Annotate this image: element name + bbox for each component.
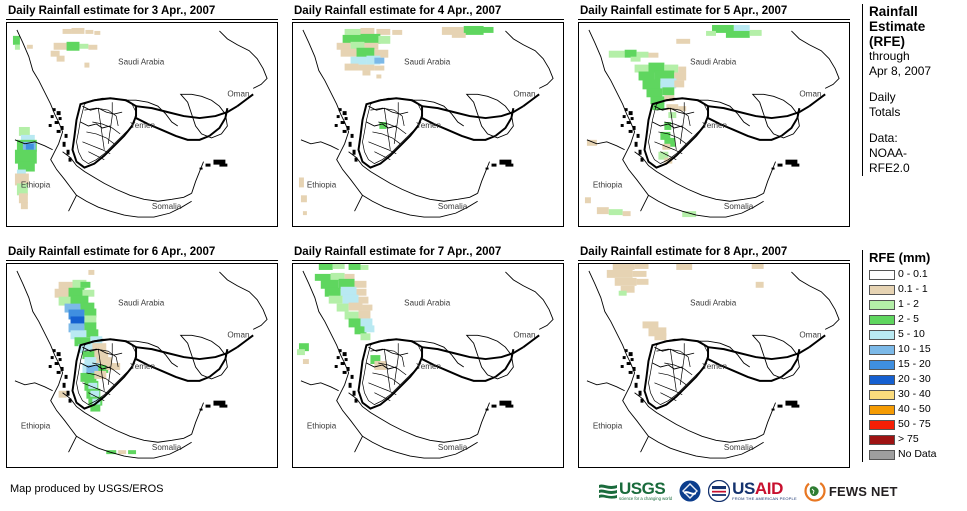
info-through-date: Apr 8, 2007 [869,64,967,79]
legend-label: 40 - 50 [898,404,931,415]
map-credit: Map produced by USGS/EROS [10,483,163,495]
legend-swatch [869,405,895,415]
label-oman: Oman [513,330,535,339]
label-somalia: Somalia [152,443,182,452]
legend-item: 5 - 10 [869,327,967,342]
label-somalia: Somalia [724,202,754,211]
map-svg: Saudi Arabia Oman Yemen Ethiopia Somalia [293,23,563,226]
label-ethiopia: Ethiopia [307,421,337,430]
legend-rows: 0 - 0.10.1 - 11 - 22 - 55 - 1010 - 1515 … [869,267,967,462]
label-somalia: Somalia [438,443,468,452]
legend-swatch [869,270,895,280]
legend-label: > 75 [898,434,919,445]
rain-cells [297,264,386,370]
legend-label: 0 - 0.1 [898,269,928,280]
info-data-line3: RFE2.0 [869,161,967,176]
label-ethiopia: Ethiopia [593,180,623,189]
legend-item: 10 - 15 [869,342,967,357]
info-period-line1: Daily [869,90,967,105]
legend-item: 1 - 2 [869,297,967,312]
legend-swatch [869,435,895,445]
label-saudi-arabia: Saudi Arabia [404,58,451,67]
panel-title: Daily Rainfall estimate for 8 Apr., 2007 [578,245,850,261]
label-somalia: Somalia [152,202,182,211]
map-canvas[interactable]: Saudi Arabia Oman Yemen Ethiopia Somalia [292,263,564,468]
legend-label: 5 - 10 [898,329,925,340]
label-oman: Oman [227,330,249,339]
map-canvas[interactable]: Saudi Arabia Oman Yemen Ethiopia Somalia [578,22,850,227]
label-saudi-arabia: Saudi Arabia [118,58,165,67]
legend-swatch [869,315,895,325]
label-yemen: Yemen [416,362,441,371]
place-labels: Saudi Arabia Oman Yemen Ethiopia Somalia [307,58,536,212]
spacer [869,79,967,90]
legend-item: > 75 [869,432,967,447]
legend-item: 40 - 50 [869,402,967,417]
label-oman: Oman [799,89,821,98]
legend-swatch [869,375,895,385]
usgs-wave-icon [598,482,618,500]
map-panel: Daily Rainfall estimate for 4 Apr., 2007 [292,4,564,227]
label-oman: Oman [227,89,249,98]
map-panel: Daily Rainfall estimate for 6 Apr., 2007 [6,245,278,468]
usgs-tagline: science for a changing world [619,496,672,501]
label-saudi-arabia: Saudi Arabia [690,299,737,308]
usaid-logo: USAID FROM THE AMERICAN PEOPLE [708,477,797,505]
usgs-logo: USGS science for a changing world [598,477,672,505]
legend-swatch [869,330,895,340]
legend-swatch [869,285,895,295]
legend-label: 10 - 15 [898,344,931,355]
legend-item: 0 - 0.1 [869,267,967,282]
legend-label: 50 - 75 [898,419,931,430]
rfe-map-sheet: Daily Rainfall estimate for 3 Apr., 2007 [0,0,967,511]
map-svg: Saudi Arabia Oman Yemen Ethiopia Somalia [293,264,563,467]
panel-title: Daily Rainfall estimate for 3 Apr., 2007 [6,4,278,20]
info-heading-line3: (RFE) [869,34,967,49]
legend-swatch [869,360,895,370]
map-panel: Daily Rainfall estimate for 7 Apr., 2007 [292,245,564,468]
fews-net-wordmark: FEWS NET [829,484,898,499]
label-ethiopia: Ethiopia [593,421,623,430]
legend-label: 30 - 40 [898,389,931,400]
label-ethiopia: Ethiopia [21,421,51,430]
international-borders [359,335,540,408]
info-panel: Rainfall Estimate (RFE) through Apr 8, 2… [862,4,967,176]
info-through-label: through [869,49,967,64]
fews-net-logo: FEWS NET [804,477,898,505]
place-labels: Saudi Arabia Oman Yemen Ethiopia Somalia [307,299,536,453]
legend-item: 50 - 75 [869,417,967,432]
spacer [869,120,967,131]
info-data-line1: Data: [869,131,967,146]
label-oman: Oman [513,89,535,98]
logo-strip: USGS science for a changing world [598,476,898,506]
label-yemen: Yemen [130,362,155,371]
legend-item: 2 - 5 [869,312,967,327]
label-saudi-arabia: Saudi Arabia [690,58,737,67]
map-canvas[interactable]: Saudi Arabia Oman Yemen Ethiopia Somalia [292,22,564,227]
legend-swatch [869,420,895,430]
label-somalia: Somalia [724,443,754,452]
map-canvas[interactable]: Saudi Arabia Oman Yemen Ethiopia Somalia [578,263,850,468]
info-data-line2: NOAA- [869,146,967,161]
label-yemen: Yemen [702,362,727,371]
label-yemen: Yemen [702,121,727,130]
usaid-seal-icon [708,480,730,502]
panel-title: Daily Rainfall estimate for 6 Apr., 2007 [6,245,278,261]
legend-label: 1 - 2 [898,299,919,310]
panel-title: Daily Rainfall estimate for 4 Apr., 2007 [292,4,564,20]
map-svg: Saudi Arabia Oman Yemen Ethiopia Somalia [579,23,849,226]
international-borders [645,335,826,408]
legend-label: 20 - 30 [898,374,931,385]
map-panel: Daily Rainfall estimate for 5 Apr., 2007 [578,4,850,227]
legend-item: 20 - 30 [869,372,967,387]
legend-label: 15 - 20 [898,359,931,370]
legend-label: 0.1 - 1 [898,284,928,295]
legend-item: 30 - 40 [869,387,967,402]
legend-item: No Data [869,447,967,462]
info-period-line2: Totals [869,105,967,120]
legend-item: 15 - 20 [869,357,967,372]
fews-globe-icon [804,480,826,502]
label-yemen: Yemen [130,121,155,130]
legend-label: 2 - 5 [898,314,919,325]
map-svg: Saudi Arabia Oman Yemen Ethiopia Somalia [579,264,849,467]
legend-swatch [869,450,895,460]
label-ethiopia: Ethiopia [307,180,337,189]
legend-swatch [869,345,895,355]
legend-title: RFE (mm) [869,250,967,265]
info-heading-line2: Estimate [869,19,967,34]
noaa-logo [679,477,701,505]
info-heading-line1: Rainfall [869,4,967,19]
legend-swatch [869,390,895,400]
legend-swatch [869,300,895,310]
legend-label: No Data [898,449,937,460]
rain-cells [55,270,136,454]
label-saudi-arabia: Saudi Arabia [404,299,451,308]
international-borders [73,94,254,167]
usaid-wordmark: USAID [732,481,797,496]
place-labels: Saudi Arabia Oman Yemen Ethiopia Somalia [593,299,822,453]
label-somalia: Somalia [438,202,468,211]
map-panel: Daily Rainfall estimate for 8 Apr., 2007 [578,245,850,468]
map-canvas[interactable]: Saudi Arabia Oman Yemen Ethiopia Somalia [6,22,278,227]
legend: RFE (mm) 0 - 0.10.1 - 11 - 22 - 55 - 101… [862,250,967,462]
map-svg: Saudi Arabia Oman Yemen Ethiopia Somalia [7,264,277,467]
noaa-seal-icon [679,480,701,502]
label-oman: Oman [799,330,821,339]
rain-cells [607,264,764,340]
place-labels: Saudi Arabia Oman Yemen Ethiopia Somalia [21,299,250,453]
label-yemen: Yemen [416,121,441,130]
place-labels: Saudi Arabia Oman Yemen Ethiopia Somalia [21,58,250,212]
usaid-tagline: FROM THE AMERICAN PEOPLE [732,496,797,501]
map-panel: Daily Rainfall estimate for 3 Apr., 2007 [6,4,278,227]
place-labels: Saudi Arabia Oman Yemen Ethiopia Somalia [593,58,822,212]
usgs-wordmark: USGS [619,481,672,496]
legend-item: 0.1 - 1 [869,282,967,297]
label-ethiopia: Ethiopia [21,180,51,189]
label-saudi-arabia: Saudi Arabia [118,299,165,308]
panel-title: Daily Rainfall estimate for 7 Apr., 2007 [292,245,564,261]
map-canvas[interactable]: Saudi Arabia Oman Yemen Ethiopia Somalia [6,263,278,468]
panel-title: Daily Rainfall estimate for 5 Apr., 2007 [578,4,850,20]
map-svg: Saudi Arabia Oman Yemen Ethiopia Somalia [7,23,277,226]
international-borders [359,94,540,167]
